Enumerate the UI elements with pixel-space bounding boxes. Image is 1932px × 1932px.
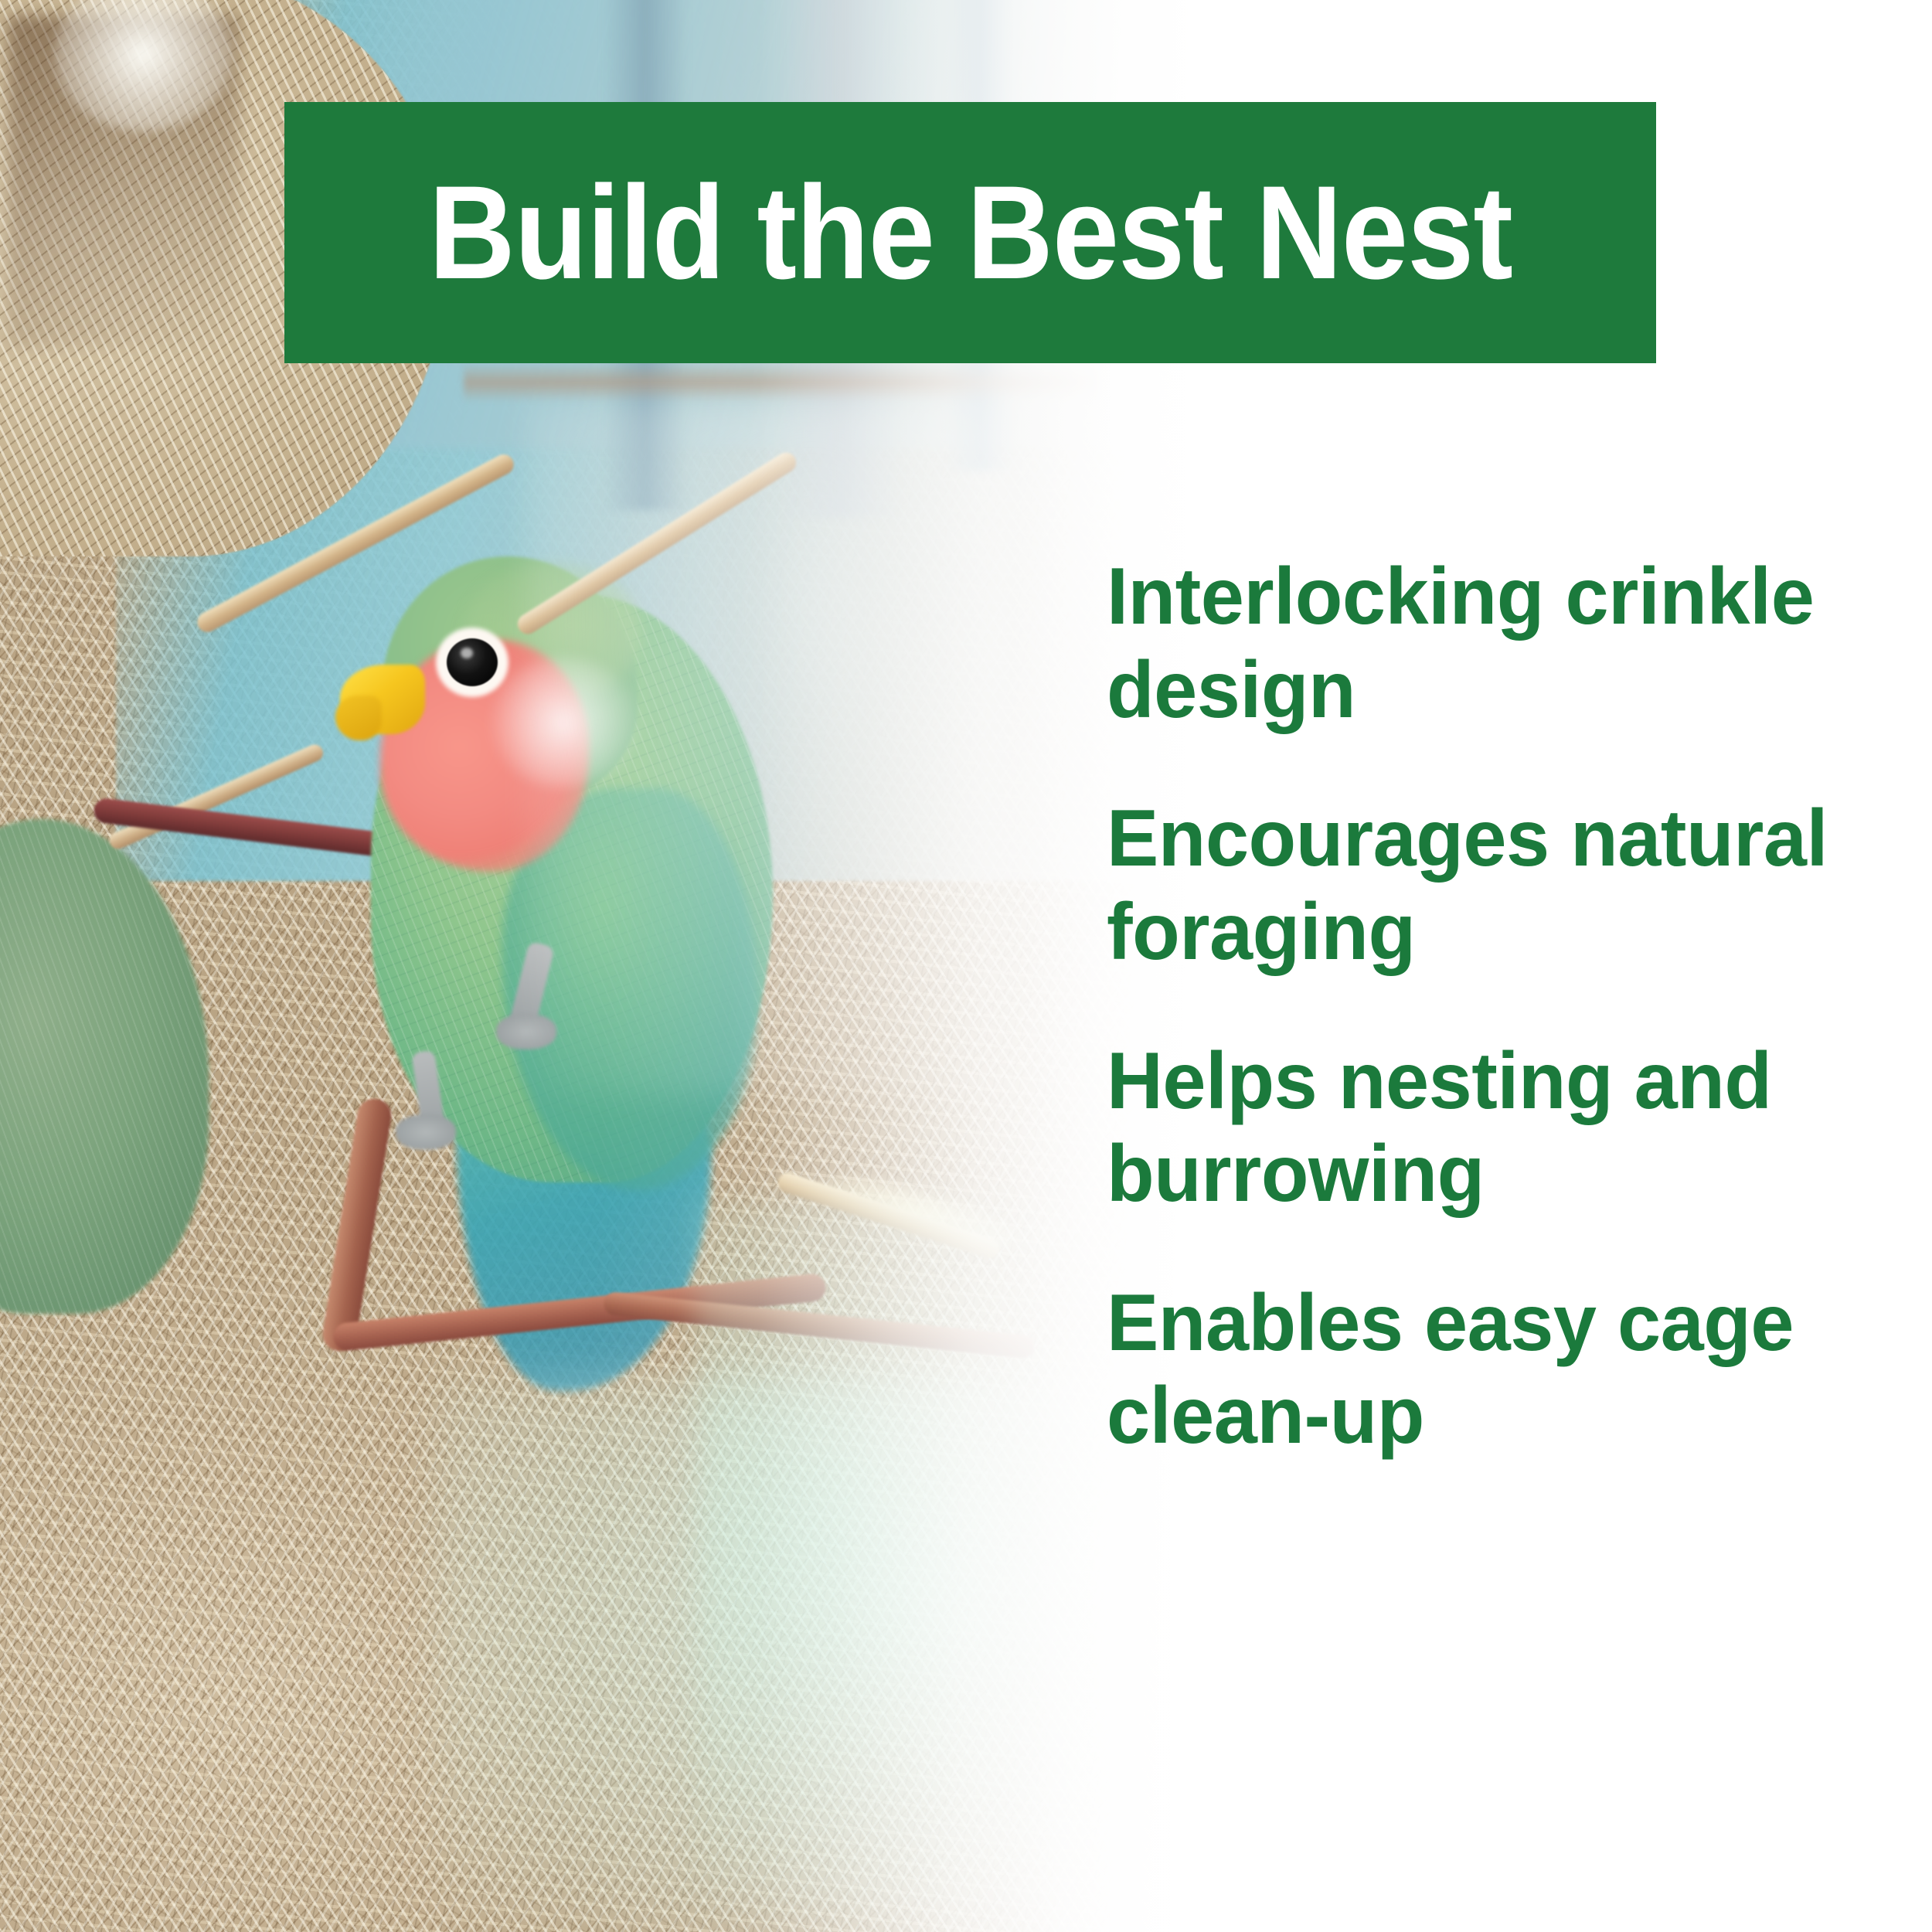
title-banner: Build the Best Nest [284, 102, 1656, 363]
feature-item-4: Enables easy cage clean-up [1107, 1277, 1864, 1463]
feature-list: Interlocking crinkle design Encourages n… [1107, 550, 1887, 1463]
page-title: Build the Best Nest [428, 166, 1512, 299]
feature-item-2: Encourages natural foraging [1107, 792, 1864, 978]
feature-item-3: Helps nesting and burrowing [1107, 1035, 1864, 1221]
product-feature-poster: Build the Best Nest Interlocking crinkle… [0, 0, 1932, 1932]
feature-item-1: Interlocking crinkle design [1107, 550, 1864, 736]
